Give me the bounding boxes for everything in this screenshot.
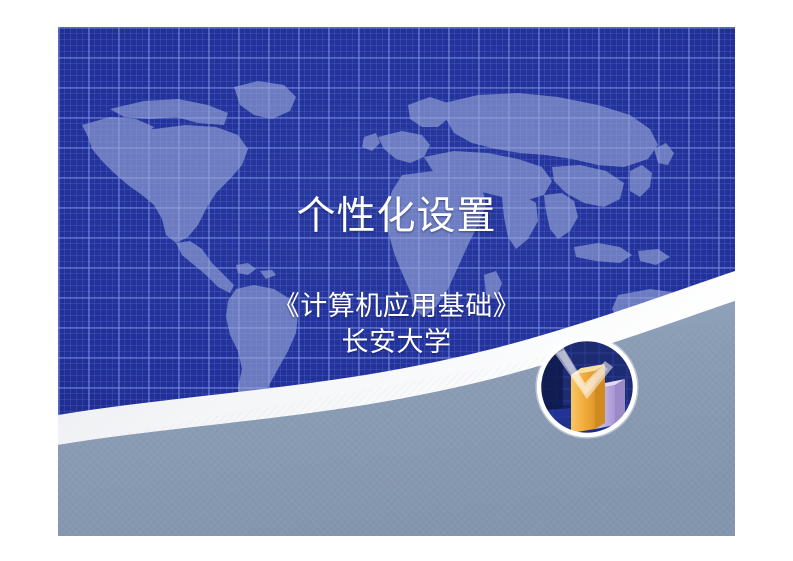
circular-bar-chart-emblem [533, 333, 641, 441]
page-canvas: 个性化设置 《计算机应用基础》 长安大学 [0, 0, 793, 561]
presentation-slide: 个性化设置 《计算机应用基础》 长安大学 [58, 27, 735, 536]
white-swoosh-curve [58, 27, 735, 536]
